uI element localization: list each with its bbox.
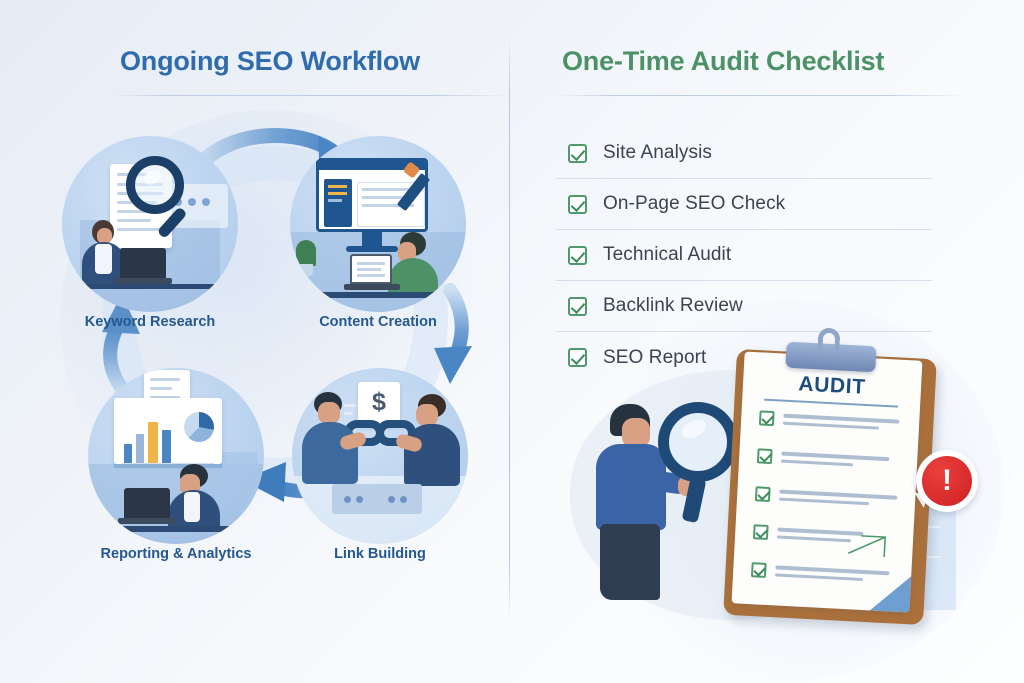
desk-surface	[290, 292, 466, 298]
alert-exclamation-icon: !	[922, 456, 972, 506]
dashboard-screen	[114, 398, 222, 464]
reporting-analytics-illustration	[88, 368, 264, 544]
person-left-torso	[302, 422, 358, 484]
person-shirt	[95, 244, 112, 274]
workflow-node-reporting-analytics[interactable]: Reporting & Analytics	[88, 368, 264, 544]
workflow-node-content-creation[interactable]: Content Creation	[290, 136, 466, 312]
audit-heading: AUDIT	[743, 369, 922, 402]
workflow-node-label-keyword-research: Keyword Research	[22, 314, 278, 330]
right-title-rule	[556, 95, 966, 96]
clipboard-placeholder-lines	[781, 450, 890, 469]
laptop-screen	[350, 254, 392, 284]
clipboard-row	[757, 448, 890, 470]
page-title-right: One-Time Audit Checklist	[562, 46, 884, 77]
checklist-item[interactable]: Site Analysis	[556, 128, 932, 179]
desk-surface	[70, 284, 220, 289]
laptop-screen	[124, 488, 170, 518]
checklist-item-label: Site Analysis	[603, 142, 712, 164]
clipboard-row	[759, 410, 900, 432]
checklist-item[interactable]: Technical Audit	[556, 230, 932, 281]
auditor-legs	[600, 524, 660, 600]
person-left-face	[318, 402, 340, 424]
monitor-foot	[346, 246, 398, 252]
left-title-rule	[112, 95, 512, 96]
content-creation-illustration	[290, 136, 466, 312]
clipboard-placeholder-lines	[779, 488, 898, 507]
desk-surface	[88, 526, 264, 532]
checklist-item[interactable]: Backlink Review	[556, 281, 932, 332]
workflow-node-label-link-building: Link Building	[252, 546, 508, 562]
clipboard-checkbox-icon	[757, 448, 773, 464]
handwritten-check-mark-icon	[846, 533, 887, 561]
magnifier-lens-icon	[126, 156, 184, 214]
laptop-screen	[120, 248, 166, 278]
checklist-item[interactable]: On-Page SEO Check	[556, 179, 932, 230]
clipboard-placeholder-lines	[783, 412, 900, 431]
workflow-node-keyword-research[interactable]: Keyword Research	[62, 136, 238, 312]
laptop-base	[344, 284, 400, 290]
clipboard-clip-loop	[817, 327, 840, 350]
checklist-item-label: Technical Audit	[603, 244, 731, 266]
person-right-torso	[404, 424, 460, 486]
clipboard-paper: AUDIT	[732, 352, 923, 613]
workflow-node-label-content-creation: Content Creation	[250, 314, 506, 330]
plant-pot	[299, 264, 313, 276]
wall-dot-3	[202, 198, 210, 206]
ongoing-seo-workflow-panel: Ongoing SEO Workflow	[0, 0, 509, 683]
checkbox-checked-icon[interactable]	[568, 144, 587, 163]
checklist-item-label: Backlink Review	[603, 295, 743, 317]
plant-leaves	[296, 240, 316, 266]
audit-illustration-scene: AUDIT	[560, 330, 1022, 650]
clipboard-placeholder-lines	[775, 563, 890, 582]
checkbox-checked-icon[interactable]	[568, 246, 587, 265]
magnifying-glass-icon[interactable]	[658, 402, 738, 482]
clipboard-row	[755, 486, 898, 508]
clipboard-checkbox-icon	[753, 524, 769, 540]
link-building-illustration: $	[292, 368, 468, 544]
wall-dot-2	[188, 198, 196, 206]
one-time-audit-checklist-panel: One-Time Audit Checklist Site Analysis O…	[509, 0, 1024, 683]
person-shirt	[184, 492, 200, 522]
clipboard-row	[751, 562, 890, 584]
clipboard-checkbox-icon	[751, 562, 767, 578]
checklist-item-label: On-Page SEO Check	[603, 193, 785, 215]
keyword-research-illustration	[62, 136, 238, 312]
clipboard-checkbox-icon	[759, 410, 775, 426]
workflow-cycle: Keyword Research	[40, 118, 510, 558]
alert-badge[interactable]: !	[916, 450, 978, 512]
clipboard-checkbox-icon	[755, 486, 771, 502]
screen-stand	[114, 464, 222, 468]
checkbox-checked-icon[interactable]	[568, 297, 587, 316]
auditor-figure	[582, 396, 732, 606]
checkbox-checked-icon[interactable]	[568, 195, 587, 214]
page-title-left: Ongoing SEO Workflow	[120, 46, 420, 77]
workflow-node-link-building[interactable]: $ Link Building	[292, 368, 468, 544]
pie-chart	[184, 412, 214, 442]
laptop-base	[118, 518, 176, 524]
person-right-face	[416, 404, 438, 426]
